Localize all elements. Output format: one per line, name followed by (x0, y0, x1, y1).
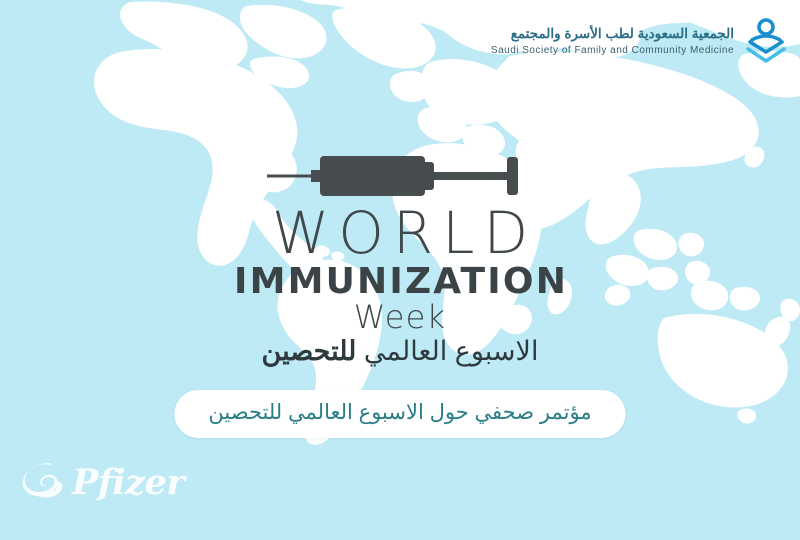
title-arabic-bold: للتحصين (262, 336, 357, 366)
title-immunization: IMMUNIZATION (0, 264, 800, 300)
title-arabic-light: الاسبوع العالمي (364, 336, 539, 366)
saudi-society-logo: الجمعية السعودية لطب الأسرة والمجتمع Sau… (491, 18, 788, 66)
press-conference-banner: مؤتمر صحفي حول الاسبوع العالمي للتحصين (174, 390, 625, 438)
press-conference-banner-text: مؤتمر صحفي حول الاسبوع العالمي للتحصين (208, 399, 591, 427)
pfizer-wordmark: Pfizer (72, 465, 184, 500)
pfizer-logo: Pfizer (22, 462, 184, 502)
world-immunization-week-poster: الجمعية السعودية لطب الأسرة والمجتمع Sau… (0, 0, 800, 540)
saudi-society-logo-mark-icon (744, 18, 788, 66)
syringe-icon-wrapper (0, 148, 800, 204)
society-name-arabic: الجمعية السعودية لطب الأسرة والمجتمع (491, 26, 734, 43)
society-logo-text: الجمعية السعودية لطب الأسرة والمجتمع Sau… (491, 26, 734, 57)
title-arabic: الاسبوع العالمي للتحصين (0, 335, 800, 369)
title-world: WORLD (0, 206, 800, 261)
main-title-lockup: WORLD IMMUNIZATION Week الاسبوع العالمي … (0, 148, 800, 368)
syringe-icon (267, 152, 533, 200)
title-week: Week (0, 301, 800, 335)
society-name-english: Saudi Society of Family and Community Me… (491, 45, 734, 58)
pfizer-helix-mark-icon (22, 462, 66, 502)
